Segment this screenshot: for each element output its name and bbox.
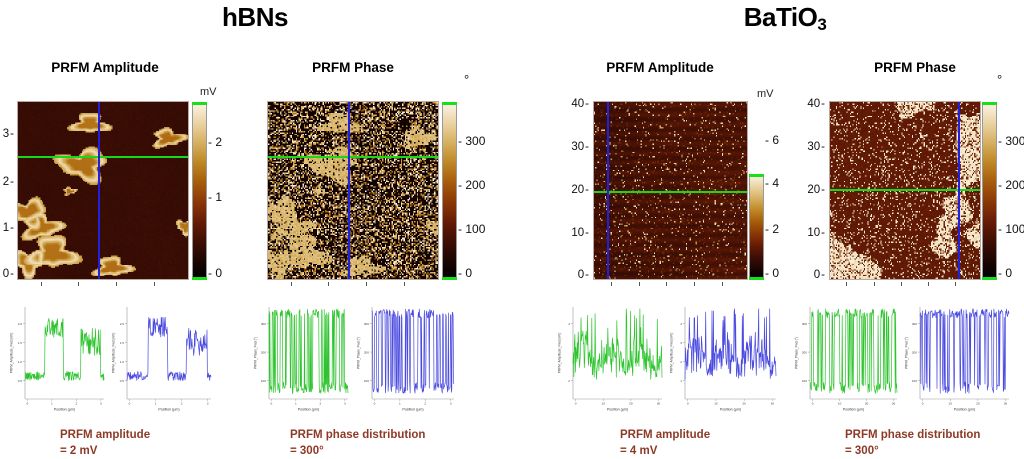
scan-image-hbn-amplitude xyxy=(18,102,188,279)
svg-text:0: 0 xyxy=(129,402,131,406)
x-axis-tick-mark xyxy=(639,282,640,286)
cbar-tick-bto-amp-4: 4 xyxy=(765,176,779,190)
x-axis-tick-mark xyxy=(154,282,155,286)
svg-text:300: 300 xyxy=(261,322,266,326)
group-title-batio3: BaTiO3 xyxy=(660,2,910,33)
x-axis-tick-mark xyxy=(116,282,117,286)
svg-text:PRFM_Phase_Fwd (°): PRFM_Phase_Fwd (°) xyxy=(357,337,361,369)
profile-plot-bto-phase-green: 3002001000102030Position (µm)PRFM_Phase_… xyxy=(793,302,901,412)
unit-label-bto-amplitude: mV xyxy=(757,88,774,100)
ytick-hbn-amp-3: 3 xyxy=(0,128,14,140)
svg-text:2: 2 xyxy=(181,402,183,406)
svg-text:0: 0 xyxy=(575,402,577,406)
x-axis-tick-mark xyxy=(694,282,695,286)
svg-text:3: 3 xyxy=(450,402,452,406)
crosshair-vertical-line[interactable] xyxy=(98,102,100,279)
svg-text:0.5: 0.5 xyxy=(120,379,125,383)
svg-text:300: 300 xyxy=(912,322,917,326)
profile-plot-hbn-amp-green: 2.01.51.00.50123Position (µm)PRFM_Amplit… xyxy=(8,302,108,412)
svg-text:0: 0 xyxy=(812,402,814,406)
crosshair-horizontal-line[interactable] xyxy=(594,191,747,193)
svg-text:Position (µm): Position (µm) xyxy=(158,408,179,412)
svg-text:100: 100 xyxy=(261,379,266,383)
panel-title-bto-phase: PRFM Phase xyxy=(820,60,1010,75)
svg-text:1.5: 1.5 xyxy=(18,341,23,345)
svg-text:10: 10 xyxy=(714,402,718,406)
caption-hbn-phase: PRFM phase distribution = 300° xyxy=(290,428,425,459)
cbar-tick-bto-pha-100: 100 xyxy=(998,222,1024,236)
svg-text:PRFM_Amplitude_Fwd (mV): PRFM_Amplitude_Fwd (mV) xyxy=(10,333,14,374)
svg-text:30: 30 xyxy=(657,402,661,406)
x-axis-tick-mark xyxy=(666,282,667,286)
cbar-tick-bto-amp-6: 6 xyxy=(765,133,779,147)
svg-text:Position (µm): Position (µm) xyxy=(954,408,975,412)
svg-text:100: 100 xyxy=(364,379,369,383)
svg-text:30: 30 xyxy=(892,402,896,406)
svg-text:20: 20 xyxy=(742,402,746,406)
cbar-tick-hbn-pha-300: 300 xyxy=(458,134,485,148)
svg-text:20: 20 xyxy=(976,402,980,406)
caption-bto-phase: PRFM phase distribution = 300° xyxy=(845,428,980,459)
cbar-tick-hbn-pha-100: 100 xyxy=(458,222,485,236)
svg-text:3: 3 xyxy=(100,402,102,406)
cbar-tick-hbn-pha-200: 200 xyxy=(458,178,485,192)
svg-text:4: 4 xyxy=(680,322,682,326)
ytick-bto-pha-0: 0 xyxy=(795,269,825,281)
svg-text:1.0: 1.0 xyxy=(18,360,23,364)
svg-text:10: 10 xyxy=(838,402,842,406)
ytick-bto-amp-10: 10 xyxy=(559,227,589,239)
unit-label-hbn-amplitude: mV xyxy=(200,86,217,98)
crosshair-vertical-line[interactable] xyxy=(958,102,960,279)
svg-text:2: 2 xyxy=(424,402,426,406)
svg-text:Position (µm): Position (µm) xyxy=(298,408,319,412)
svg-text:200: 200 xyxy=(364,350,369,354)
svg-text:2: 2 xyxy=(568,379,570,383)
profile-plot-hbn-phase-green: 3002001000123Position (µm)PRFM_Phase_Fwd… xyxy=(252,302,352,412)
svg-text:1.5: 1.5 xyxy=(120,341,125,345)
cbar-tick-bto-pha-300: 300 xyxy=(998,134,1024,148)
svg-text:2.0: 2.0 xyxy=(18,322,23,326)
crosshair-horizontal-line[interactable] xyxy=(18,156,188,158)
svg-text:1.0: 1.0 xyxy=(120,360,125,364)
svg-text:PRFM_Amplitude_Fwd (mV): PRFM_Amplitude_Fwd (mV) xyxy=(670,333,674,374)
cbar-tick-bto-pha-200: 200 xyxy=(998,178,1024,192)
svg-text:2.0: 2.0 xyxy=(120,322,125,326)
svg-text:PRFM_Phase_Fwd (°): PRFM_Phase_Fwd (°) xyxy=(795,337,799,369)
svg-text:3: 3 xyxy=(207,402,209,406)
svg-text:200: 200 xyxy=(912,350,917,354)
svg-text:0: 0 xyxy=(374,402,376,406)
x-axis-tick-mark xyxy=(611,282,612,286)
svg-text:PRFM_Phase_Fwd (°): PRFM_Phase_Fwd (°) xyxy=(254,337,258,369)
svg-text:10: 10 xyxy=(949,402,953,406)
svg-text:1: 1 xyxy=(680,379,682,383)
svg-text:PRFM_Phase_Fwd (°): PRFM_Phase_Fwd (°) xyxy=(905,337,909,369)
x-axis-tick-mark xyxy=(404,282,405,286)
panel-title-hbn-amplitude: PRFM Amplitude xyxy=(10,60,200,75)
ytick-bto-pha-40: 40 xyxy=(795,98,825,110)
svg-text:0.5: 0.5 xyxy=(18,379,23,383)
group-title-hbns: hBNs xyxy=(130,2,380,33)
svg-text:4: 4 xyxy=(568,322,570,326)
scan-image-hbn-phase xyxy=(268,102,438,279)
cbar-tick-hbn-pha-0: 0 xyxy=(458,266,472,280)
ytick-bto-amp-0: 0 xyxy=(559,269,589,281)
svg-text:300: 300 xyxy=(802,322,807,326)
cbar-tick-hbn-amp-2: 2 xyxy=(208,135,222,149)
x-axis-tick-mark xyxy=(874,282,875,286)
ytick-hbn-amp-0: 0 xyxy=(0,268,14,280)
colorbar-hbn-amplitude xyxy=(193,103,206,279)
x-axis-tick-mark xyxy=(722,282,723,286)
ytick-bto-pha-10: 10 xyxy=(795,227,825,239)
scan-image-bto-amplitude xyxy=(594,102,747,279)
ytick-bto-amp-40: 40 xyxy=(559,98,589,110)
svg-text:1: 1 xyxy=(51,402,53,406)
cbar-tick-hbn-amp-1: 1 xyxy=(208,190,222,204)
svg-text:0: 0 xyxy=(922,402,924,406)
svg-text:2: 2 xyxy=(319,402,321,406)
profile-plot-bto-amp-green: 420102030Position (µm)PRFM_Amplitude_Fwd… xyxy=(556,302,666,412)
x-axis-tick-mark xyxy=(366,282,367,286)
x-axis-tick-mark xyxy=(846,282,847,286)
x-axis-tick-mark xyxy=(928,282,929,286)
profile-plot-hbn-phase-blue: 3002001000123Position (µm)PRFM_Phase_Fwd… xyxy=(355,302,458,412)
svg-text:1: 1 xyxy=(155,402,157,406)
svg-text:0: 0 xyxy=(27,402,29,406)
profile-plot-bto-phase-blue: 3002001000102030Position (µm)PRFM_Phase_… xyxy=(903,302,1013,412)
svg-text:200: 200 xyxy=(802,350,807,354)
svg-text:2: 2 xyxy=(680,360,682,364)
unit-label-bto-phase: ° xyxy=(997,72,1002,87)
svg-text:Position (µm): Position (µm) xyxy=(402,408,423,412)
svg-text:200: 200 xyxy=(261,350,266,354)
cbar-tick-bto-amp-0: 0 xyxy=(765,266,779,280)
svg-text:Position (µm): Position (µm) xyxy=(607,408,628,412)
svg-text:300: 300 xyxy=(364,322,369,326)
svg-text:1: 1 xyxy=(399,402,401,406)
svg-text:20: 20 xyxy=(865,402,869,406)
x-axis-tick-mark xyxy=(328,282,329,286)
svg-text:20: 20 xyxy=(629,402,633,406)
profile-plot-hbn-amp-blue: 2.01.51.00.50123Position (µm)PRFM_Amplit… xyxy=(110,302,215,412)
ytick-bto-pha-30: 30 xyxy=(795,141,825,153)
svg-text:10: 10 xyxy=(602,402,606,406)
svg-text:2: 2 xyxy=(75,402,77,406)
svg-text:Position (µm): Position (µm) xyxy=(843,408,864,412)
x-axis-tick-mark xyxy=(78,282,79,286)
svg-text:100: 100 xyxy=(912,379,917,383)
panel-title-hbn-phase: PRFM Phase xyxy=(258,60,448,75)
crosshair-vertical-line[interactable] xyxy=(348,102,350,279)
ytick-hbn-amp-2: 2 xyxy=(0,176,14,188)
ytick-bto-amp-20: 20 xyxy=(559,184,589,196)
panel-title-bto-amplitude: PRFM Amplitude xyxy=(565,60,755,75)
svg-text:0: 0 xyxy=(687,402,689,406)
profile-plot-bto-amp-blue: 43210102030Position (µm)PRFM_Amplitude_F… xyxy=(668,302,780,412)
svg-text:100: 100 xyxy=(802,379,807,383)
colorbar-hbn-phase xyxy=(443,103,456,279)
svg-text:30: 30 xyxy=(771,402,775,406)
caption-hbn-amplitude: PRFM amplitude = 2 mV xyxy=(60,428,150,459)
unit-label-hbn-phase: ° xyxy=(464,72,469,87)
cbar-tick-hbn-amp-0: 0 xyxy=(208,266,222,280)
caption-bto-amplitude: PRFM amplitude = 4 mV xyxy=(620,428,710,459)
crosshair-horizontal-line[interactable] xyxy=(268,156,438,158)
svg-text:0: 0 xyxy=(271,402,273,406)
x-axis-tick-mark xyxy=(291,282,292,286)
colorbar-bto-phase xyxy=(983,103,996,279)
x-axis-tick-mark xyxy=(41,282,42,286)
cbar-tick-bto-pha-0: 0 xyxy=(998,266,1012,280)
cbar-tick-bto-amp-2: 2 xyxy=(765,222,779,236)
ytick-hbn-amp-1: 1 xyxy=(0,222,14,234)
ytick-bto-pha-20: 20 xyxy=(795,184,825,196)
ytick-bto-amp-30: 30 xyxy=(559,141,589,153)
x-axis-tick-mark xyxy=(955,282,956,286)
svg-text:1: 1 xyxy=(295,402,297,406)
svg-text:30: 30 xyxy=(1004,402,1008,406)
x-axis-tick-mark xyxy=(901,282,902,286)
svg-text:3: 3 xyxy=(680,341,682,345)
svg-text:Position (µm): Position (µm) xyxy=(54,408,75,412)
colorbar-bto-amplitude xyxy=(750,175,763,279)
svg-text:3: 3 xyxy=(344,402,346,406)
svg-text:PRFM_Amplitude_Fwd (mV): PRFM_Amplitude_Fwd (mV) xyxy=(558,333,562,374)
pfm-figure: hBNs BaTiO3 PRFM Amplitude PRFM Phase PR… xyxy=(0,0,1024,455)
svg-text:Position (µm): Position (µm) xyxy=(720,408,741,412)
crosshair-vertical-line[interactable] xyxy=(607,102,609,279)
scan-image-bto-phase xyxy=(830,102,980,279)
svg-text:PRFM_Amplitude_Fwd (mV): PRFM_Amplitude_Fwd (mV) xyxy=(112,333,116,374)
